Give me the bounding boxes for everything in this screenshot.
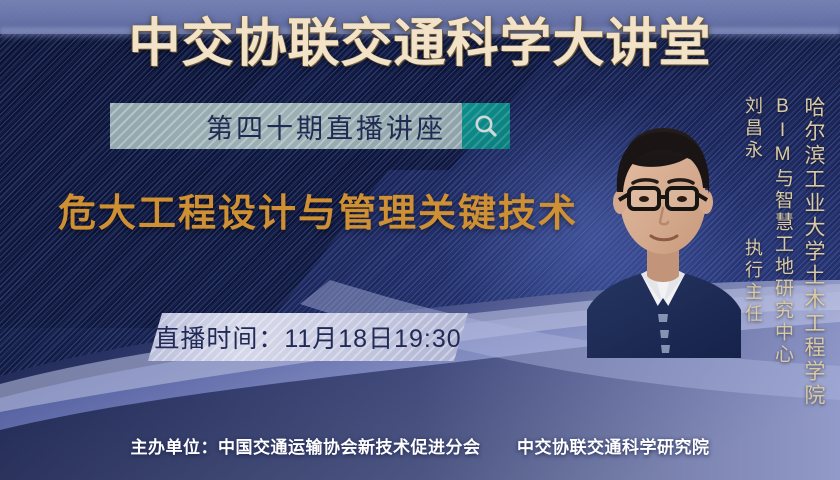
speaker-portrait [575,88,751,358]
page-title: 中交协联交通科学大讲堂 [0,14,840,74]
subtitle-banner: 第四十期直播讲座 [110,103,462,149]
speaker-role: 执行主任 [740,238,766,326]
search-icon-box[interactable] [462,103,510,149]
speaker-organization: 哈尔滨工业大学土木工程学院 [798,96,828,408]
speaker-center: BIM与智慧工地研究中心 [769,96,796,366]
footer-organizer-primary: 主办单位：中国交通运输协会新技术促进分会 [131,438,481,457]
footer-organizers: 主办单位：中国交通运输协会新技术促进分会 中交协联交通科学研究院 [0,433,840,458]
search-icon [473,113,499,139]
headline: 危大工程设计与管理关键技术 [58,190,578,238]
poster-canvas: 中交协联交通科学大讲堂 第四十期直播讲座 危大工程设计与管理关键技术 直播时间：… [0,0,840,480]
live-time-text: 直播时间：11月18日19:30 [154,319,461,355]
footer-organizer-secondary: 中交协联交通科学研究院 [517,438,710,457]
speaker-name: 刘昌永 [740,96,766,162]
subtitle-banner-row: 第四十期直播讲座 [110,103,510,149]
subtitle-text: 第四十期直播讲座 [206,107,446,146]
live-time-banner: 直播时间：11月18日19:30 [148,313,468,361]
